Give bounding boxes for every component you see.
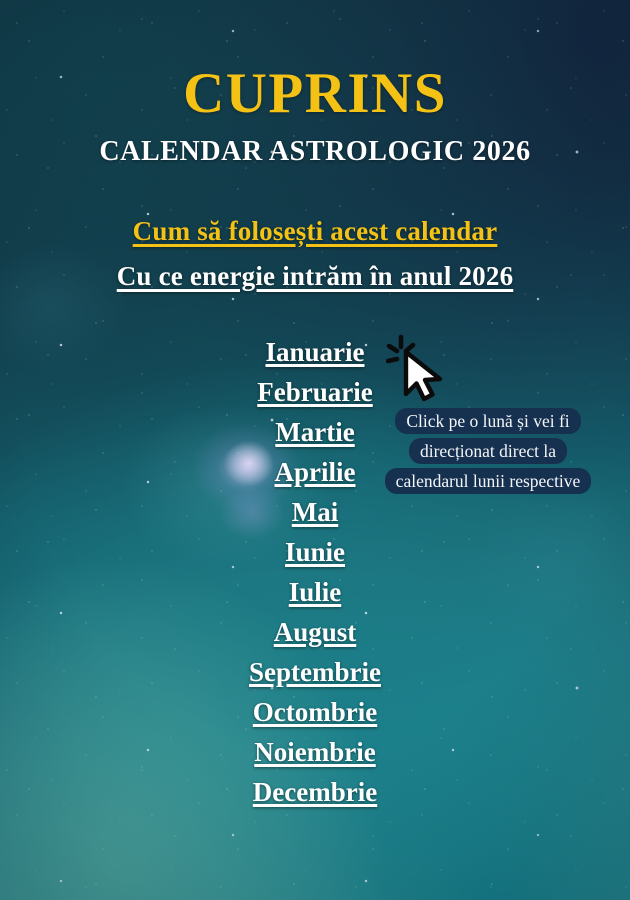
toc-link-how-to-use[interactable]: Cum să folosești acest calendar [133,212,498,251]
tooltip-click-month: Click pe o lună și vei fi direcționat di… [378,406,598,496]
tooltip-text: Click pe o lună și vei fi direcționat di… [385,408,592,494]
page-subtitle: CALENDAR ASTROLOGIC 2026 [99,136,530,168]
month-link-decembrie[interactable]: Decembrie [253,772,377,812]
month-link-mai[interactable]: Mai [292,492,339,532]
month-link-octombrie[interactable]: Octombrie [253,692,377,732]
month-link-aprilie[interactable]: Aprilie [275,452,356,492]
page-title: CUPRINS [183,64,447,124]
toc-link-energy-2026[interactable]: Cu ce energie intrăm în anul 2026 [117,257,514,296]
month-list: Ianuarie Februarie Martie Aprilie Mai Iu… [0,332,630,812]
month-link-septembrie[interactable]: Septembrie [249,652,381,692]
month-link-februarie[interactable]: Februarie [257,372,372,412]
month-link-iunie[interactable]: Iunie [285,532,345,572]
toc-link-list: Cum să folosești acest calendar Cu ce en… [117,212,514,296]
month-link-august[interactable]: August [274,612,357,652]
page-root: CUPRINS CALENDAR ASTROLOGIC 2026 Cum să … [0,0,630,900]
month-link-martie[interactable]: Martie [275,412,354,452]
month-link-iulie[interactable]: Iulie [289,572,342,612]
month-link-noiembrie[interactable]: Noiembrie [254,732,375,772]
month-link-ianuarie[interactable]: Ianuarie [265,332,364,372]
